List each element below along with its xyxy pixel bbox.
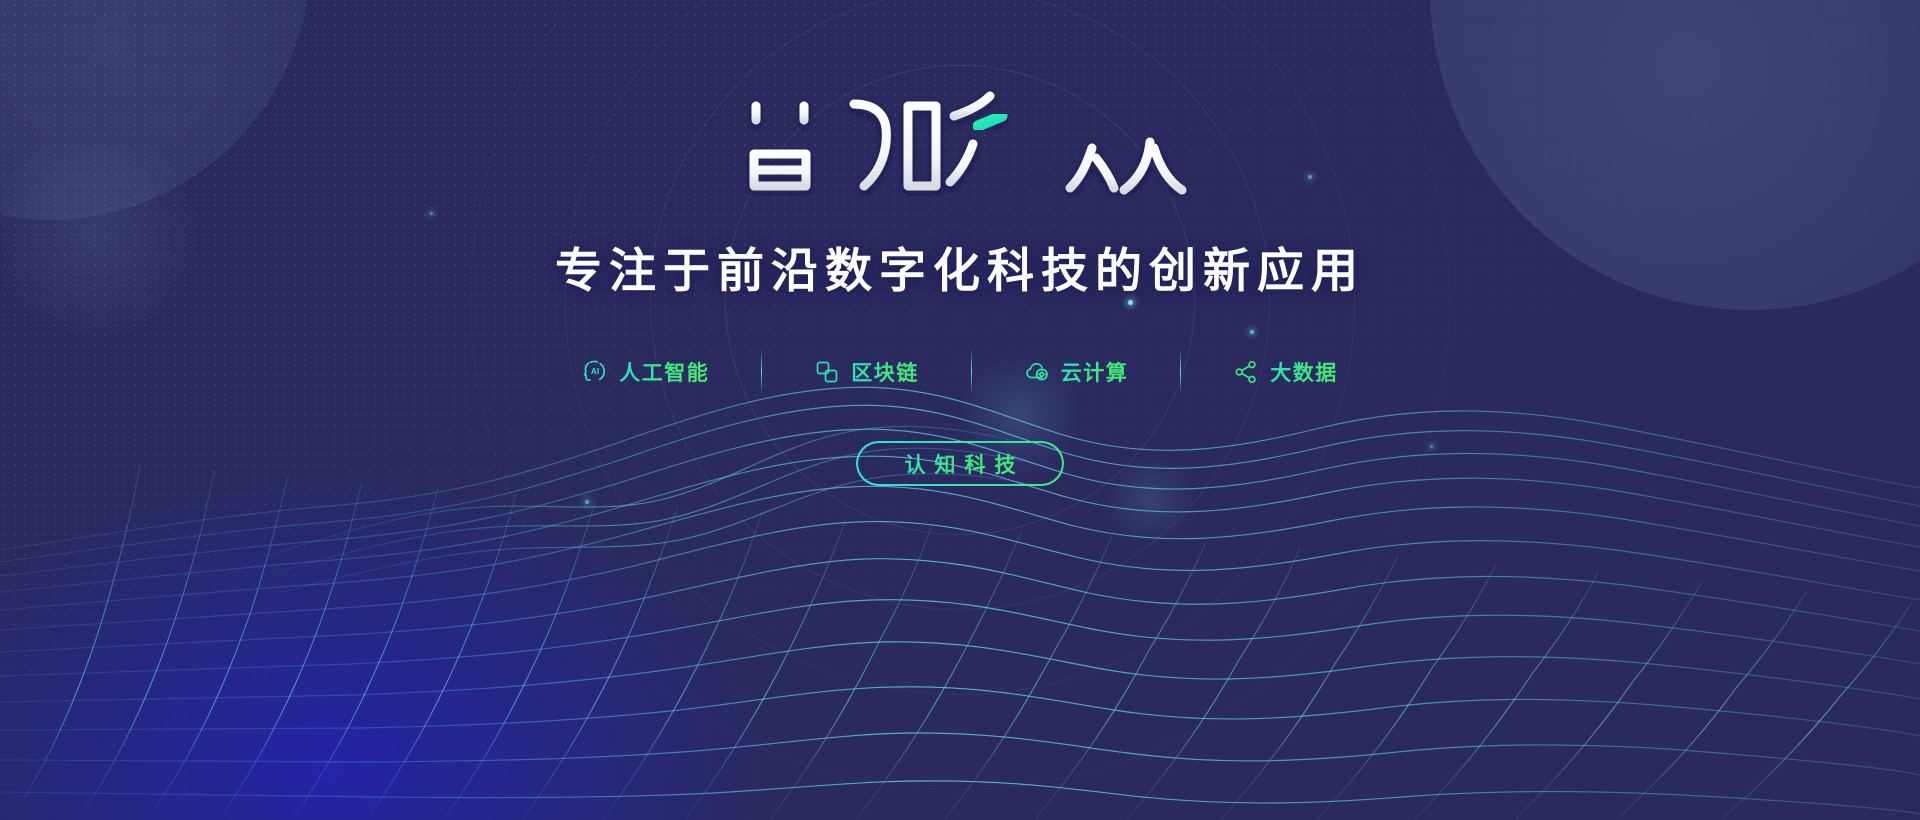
cta-wrapper: 认知科技 — [856, 441, 1064, 486]
feature-item-blockchain[interactable]: 区块链 — [762, 357, 971, 387]
tagline: 专注于前沿数字化科技的创新应用 — [555, 232, 1365, 301]
cta-label: 认知科技 — [896, 449, 1025, 479]
feature-item-cloud[interactable]: 云计算 — [972, 357, 1181, 387]
cognitive-tech-button[interactable]: 认知科技 — [856, 441, 1064, 486]
cloud-computing-icon — [1024, 359, 1050, 385]
ai-head-icon: AI — [582, 359, 608, 385]
banner-content: 专注于前沿数字化科技的创新应用 AI 人工智能 区块链 — [0, 0, 1920, 820]
big-data-share-icon — [1233, 359, 1259, 385]
svg-text:AI: AI — [591, 367, 599, 376]
feature-list: AI 人工智能 区块链 云计算 — [530, 349, 1390, 395]
feature-label: 大数据 — [1270, 357, 1338, 387]
blockchain-blocks-icon — [814, 359, 840, 385]
logo-accent-stroke — [978, 116, 1002, 126]
feature-label: 云计算 — [1061, 357, 1129, 387]
brand-logo — [730, 78, 1190, 196]
feature-item-bigdata[interactable]: 大数据 — [1181, 357, 1390, 387]
feature-label: 人工智能 — [619, 357, 709, 387]
feature-label: 区块链 — [851, 357, 919, 387]
hero-banner: 专注于前沿数字化科技的创新应用 AI 人工智能 区块链 — [0, 0, 1920, 820]
feature-item-ai[interactable]: AI 人工智能 — [530, 357, 761, 387]
